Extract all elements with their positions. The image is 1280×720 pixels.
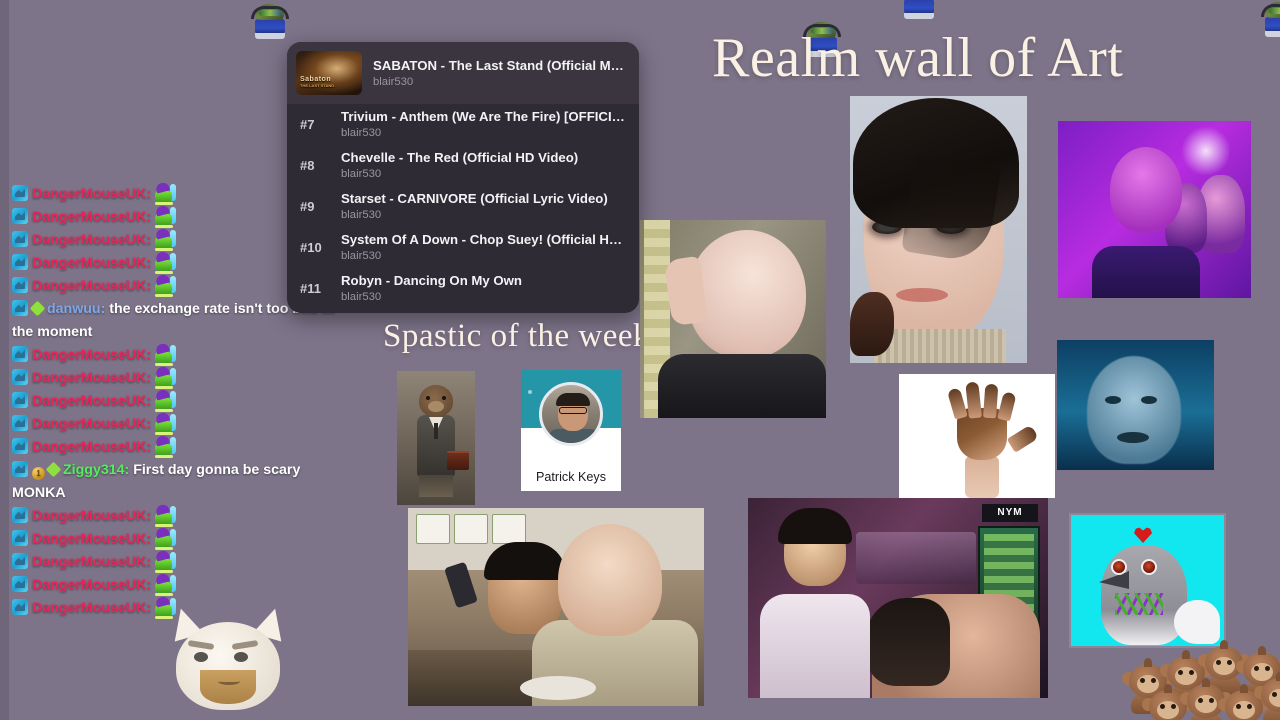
bits-badge-icon xyxy=(12,553,28,569)
chat-emote-icon xyxy=(154,528,176,550)
bits-badge-icon xyxy=(12,599,28,615)
chat-username-separator: : xyxy=(146,577,151,593)
now-playing-row[interactable]: Sabaton THE LAST STAND SABATON - The Las… xyxy=(287,42,639,104)
chat-emote-icon xyxy=(154,206,176,228)
page-title-realm-wall-of-art: Realm wall of Art xyxy=(712,26,1123,90)
playlist-queue-row[interactable]: #10System Of A Down - Chop Suey! (Offici… xyxy=(287,227,639,268)
artwork-purple-nightclub-selfie xyxy=(1058,121,1251,298)
chat-username[interactable]: DangerMouseUK xyxy=(32,439,146,455)
sub-badge-icon: 1 xyxy=(32,467,45,480)
bits-badge-icon xyxy=(12,438,28,454)
playlist-queue-row[interactable]: #8Chevelle - The Red (Official HD Video)… xyxy=(287,145,639,186)
queue-index: #8 xyxy=(300,158,330,173)
bits-badge-icon xyxy=(12,415,28,431)
chat-username-separator: : xyxy=(146,508,151,524)
now-playing-requester: blair530 xyxy=(373,75,627,90)
artwork-karaoke-bar-photo: NYM xyxy=(748,498,1048,698)
chat-username-separator: : xyxy=(146,600,151,616)
chat-username[interactable]: danwuu xyxy=(47,301,101,317)
song-request-playlist-panel[interactable]: Sabaton THE LAST STAND SABATON - The Las… xyxy=(287,42,639,313)
chat-username[interactable]: DangerMouseUK xyxy=(32,577,146,593)
queue-index: #9 xyxy=(300,199,330,214)
chat-emote-icon xyxy=(154,574,176,596)
queue-row-requester: blair530 xyxy=(341,290,627,305)
club-sign-text: NYM xyxy=(982,504,1038,522)
queue-row-title: Chevelle - The Red (Official HD Video) xyxy=(341,149,627,166)
bits-badge-icon xyxy=(12,576,28,592)
chat-username[interactable]: DangerMouseUK xyxy=(32,278,146,294)
bits-badge-icon xyxy=(12,185,28,201)
thumbnail-logo-text: Sabaton THE LAST STAND xyxy=(300,76,334,88)
artwork-bald-man-facepalm xyxy=(640,220,826,418)
gem-badge-icon xyxy=(46,462,62,478)
playlist-queue-row[interactable]: #7Trivium - Anthem (We Are The Fire) [OF… xyxy=(287,104,639,145)
section-title-spastic-of-the-week: Spastic of the week xyxy=(383,318,650,355)
chat-message[interactable]: DangerMouseUK: xyxy=(12,367,357,390)
now-playing-meta: SABATON - The Last Stand (Official M… bl… xyxy=(373,57,627,90)
chat-message[interactable]: DangerMouseUK: xyxy=(12,344,357,367)
artwork-brown-hand xyxy=(899,374,1055,498)
chat-username-separator: : xyxy=(146,416,151,432)
chat-username[interactable]: DangerMouseUK xyxy=(32,554,146,570)
bits-badge-icon xyxy=(12,346,28,362)
bits-badge-icon xyxy=(12,369,28,385)
chat-username-separator: : xyxy=(146,232,151,248)
bits-badge-icon xyxy=(12,231,28,247)
chat-username-separator: : xyxy=(146,393,151,409)
artwork-restaurant-photo xyxy=(408,508,704,706)
avatar xyxy=(539,382,603,446)
chat-username[interactable]: DangerMouseUK xyxy=(32,416,146,432)
left-gutter-strip xyxy=(0,0,9,720)
bits-badge-icon xyxy=(12,254,28,270)
chat-emote-icon xyxy=(154,413,176,435)
queue-row-requester: blair530 xyxy=(341,167,627,182)
playlist-queue: #7Trivium - Anthem (We Are The Fire) [OF… xyxy=(287,104,639,309)
chat-emote-icon xyxy=(154,436,176,458)
chat-username-separator: : xyxy=(146,255,151,271)
bits-badge-icon xyxy=(12,530,28,546)
chat-message[interactable]: DangerMouseUK: xyxy=(12,390,357,413)
now-playing-title: SABATON - The Last Stand (Official M… xyxy=(373,57,627,74)
queue-row-title: Starset - CARNIVORE (Official Lyric Vide… xyxy=(341,190,627,207)
chat-emote-icon xyxy=(154,252,176,274)
chat-emote-icon xyxy=(154,183,176,205)
chat-emote-icon xyxy=(154,367,176,389)
chat-emote-icon xyxy=(154,275,176,297)
now-playing-thumbnail: Sabaton THE LAST STAND xyxy=(296,51,362,95)
queue-index: #10 xyxy=(300,240,330,255)
chat-emote-icon xyxy=(154,551,176,573)
artwork-blue-man-looking-up xyxy=(1057,340,1214,470)
chat-username[interactable]: DangerMouseUK xyxy=(32,393,146,409)
headphones-blob-sprite xyxy=(248,2,292,42)
chat-username[interactable]: DangerMouseUK xyxy=(32,531,146,547)
chat-username[interactable]: DangerMouseUK xyxy=(32,232,146,248)
chat-username[interactable]: DangerMouseUK xyxy=(32,347,146,363)
crying-cat-emote xyxy=(162,608,300,714)
chat-username-separator: : xyxy=(146,209,151,225)
profile-card-name: Patrick Keys xyxy=(521,470,621,484)
chat-username-separator: : xyxy=(146,347,151,363)
queue-row-meta: Starset - CARNIVORE (Official Lyric Vide… xyxy=(341,190,627,223)
profile-card-patrick-keys: Patrick Keys xyxy=(521,370,621,491)
queue-row-title: System Of A Down - Chop Suey! (Official … xyxy=(341,231,627,248)
chat-emote-icon xyxy=(154,505,176,527)
chat-username[interactable]: DangerMouseUK xyxy=(32,209,146,225)
queue-row-requester: blair530 xyxy=(341,126,627,141)
chat-username[interactable]: DangerMouseUK xyxy=(32,508,146,524)
playlist-queue-row[interactable]: #9Starset - CARNIVORE (Official Lyric Vi… xyxy=(287,186,639,227)
artwork-emo-portrait xyxy=(850,96,1027,363)
heart-icon xyxy=(1134,527,1152,543)
bits-badge-icon xyxy=(12,392,28,408)
chat-username-separator: : xyxy=(146,278,151,294)
chat-username[interactable]: Ziggy314 xyxy=(63,462,125,478)
queue-row-requester: blair530 xyxy=(341,208,627,223)
chat-username[interactable]: DangerMouseUK xyxy=(32,186,146,202)
stream-overlay-canvas: DangerMouseUK:DangerMouseUK:DangerMouseU… xyxy=(0,0,1280,720)
queue-row-requester: blair530 xyxy=(341,249,627,264)
artwork-pigeon-drawing xyxy=(1069,513,1226,648)
chat-username-separator: : xyxy=(146,186,151,202)
bits-badge-icon xyxy=(12,208,28,224)
artwork-otter-in-suit xyxy=(397,371,475,505)
chat-emote-icon xyxy=(154,344,176,366)
chat-username-separator: : xyxy=(146,531,151,547)
bits-badge-icon xyxy=(12,507,28,523)
bits-badge-icon xyxy=(12,277,28,293)
chat-username[interactable]: DangerMouseUK xyxy=(32,370,146,386)
chat-message[interactable]: DangerMouseUK: xyxy=(12,505,357,528)
chat-message[interactable]: DangerMouseUK: xyxy=(12,528,357,551)
chat-message[interactable]: 1Ziggy314: First day gonna be scary MONK… xyxy=(12,459,357,505)
chat-emote-icon xyxy=(154,229,176,251)
chat-username-separator: : xyxy=(146,370,151,386)
chat-message[interactable]: DangerMouseUK: xyxy=(12,551,357,574)
playlist-queue-row[interactable]: #11Robyn - Dancing On My Ownblair530 xyxy=(287,268,639,309)
queue-row-meta: Robyn - Dancing On My Ownblair530 xyxy=(341,272,627,305)
bits-badge-icon xyxy=(12,461,28,477)
headphones-blob-sprite xyxy=(897,0,941,22)
queue-row-title: Robyn - Dancing On My Own xyxy=(341,272,627,289)
chat-username[interactable]: DangerMouseUK xyxy=(32,255,146,271)
headphones-blob-sprite xyxy=(1258,0,1280,40)
chat-username-separator: : xyxy=(146,439,151,455)
chat-username-separator: : xyxy=(146,554,151,570)
queue-row-title: Trivium - Anthem (We Are The Fire) [OFFI… xyxy=(341,108,627,125)
queue-row-meta: Trivium - Anthem (We Are The Fire) [OFFI… xyxy=(341,108,627,141)
queue-row-meta: Chevelle - The Red (Official HD Video)bl… xyxy=(341,149,627,182)
queue-index: #7 xyxy=(300,117,330,132)
bits-badge-icon xyxy=(12,300,28,316)
gem-badge-icon xyxy=(30,301,46,317)
chat-username[interactable]: DangerMouseUK xyxy=(32,600,146,616)
queue-index: #11 xyxy=(300,281,330,296)
monkey-emote xyxy=(1254,672,1280,720)
chat-message[interactable]: DangerMouseUK: xyxy=(12,574,357,597)
chat-emote-icon xyxy=(154,390,176,412)
chat-message[interactable]: DangerMouseUK: xyxy=(12,436,357,459)
chat-message[interactable]: DangerMouseUK: xyxy=(12,413,357,436)
queue-row-meta: System Of A Down - Chop Suey! (Official … xyxy=(341,231,627,264)
